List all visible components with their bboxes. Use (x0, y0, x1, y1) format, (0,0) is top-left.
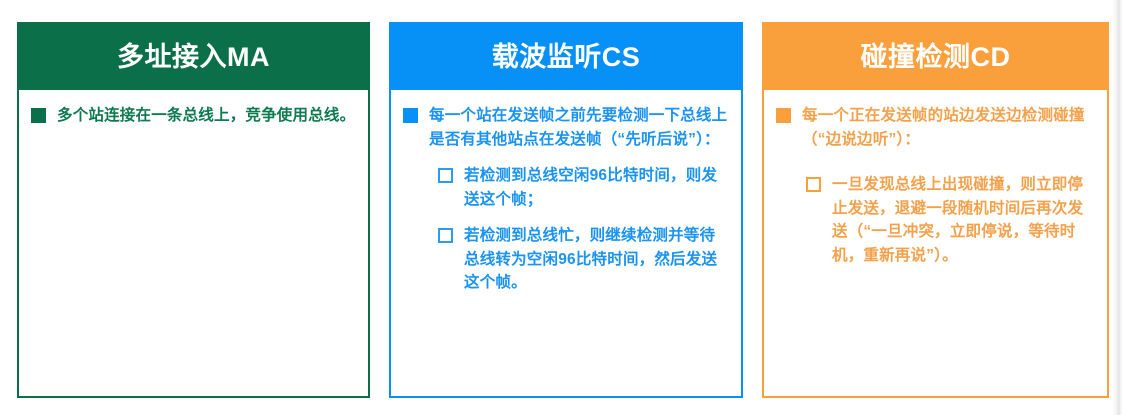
bullet-item: 多个站连接在一条总线上，竞争使用总线。 (31, 104, 356, 128)
card-multiple-access: 多址接入MA 多个站连接在一条总线上，竞争使用总线。 (17, 22, 370, 398)
bullet-text: 每一个正在发送帧的站边发送边检测碰撞（“边说边听”）： (802, 104, 1095, 151)
filled-square-marker-icon (776, 108, 791, 123)
card-body-carrier-sense: 每一个站在发送帧之前先要检测一下总线上是否有其他站点在发送帧（“先听后说”）： … (391, 90, 741, 396)
card-body-multiple-access: 多个站连接在一条总线上，竞争使用总线。 (19, 90, 368, 396)
bullet-item: 若检测到总线忙，则继续检测并等待总线转为空闲96比特时间，然后发送这个帧。 (438, 224, 729, 295)
card-title: 载波监听CS (492, 44, 641, 71)
card-header-multiple-access: 多址接入MA (19, 24, 368, 90)
card-carrier-sense: 载波监听CS 每一个站在发送帧之前先要检测一下总线上是否有其他站点在发送帧（“先… (389, 22, 743, 398)
filled-square-marker-icon (31, 108, 46, 123)
card-header-collision-detection: 碰撞检测CD (764, 24, 1107, 90)
bullet-text: 一旦发现总线上出现碰撞，则立即停止发送，退避一段随机时间后再次发送（“一旦冲突，… (832, 173, 1095, 267)
card-header-carrier-sense: 载波监听CS (391, 24, 741, 90)
card-body-collision-detection: 每一个正在发送帧的站边发送边检测碰撞（“边说边听”）： 一旦发现总线上出现碰撞，… (764, 90, 1107, 396)
bullet-text: 每一个站在发送帧之前先要检测一下总线上是否有其他站点在发送帧（“先听后说”）： (429, 104, 729, 151)
hollow-square-marker-icon (806, 177, 821, 192)
bullet-item: 每一个正在发送帧的站边发送边检测碰撞（“边说边听”）： (776, 104, 1095, 151)
slide-canvas: 多址接入MA 多个站连接在一条总线上，竞争使用总线。 载波监听CS 每一个站在发… (0, 0, 1122, 415)
bullet-item: 若检测到总线空闲96比特时间，则发送这个帧； (438, 164, 729, 211)
hollow-square-marker-icon (438, 168, 453, 183)
bullet-item: 每一个站在发送帧之前先要检测一下总线上是否有其他站点在发送帧（“先听后说”）： (403, 104, 729, 151)
card-collision-detection: 碰撞检测CD 每一个正在发送帧的站边发送边检测碰撞（“边说边听”）： 一旦发现总… (762, 22, 1109, 398)
filled-square-marker-icon (403, 108, 418, 123)
bullet-text: 多个站连接在一条总线上，竞争使用总线。 (57, 104, 355, 128)
bullet-item: 一旦发现总线上出现碰撞，则立即停止发送，退避一段随机时间后再次发送（“一旦冲突，… (806, 173, 1095, 267)
page-edge-shadow (1112, 0, 1122, 415)
card-title: 碰撞检测CD (861, 44, 1011, 71)
card-title: 多址接入MA (117, 44, 270, 71)
hollow-square-marker-icon (438, 228, 453, 243)
bullet-text: 若检测到总线忙，则继续检测并等待总线转为空闲96比特时间，然后发送这个帧。 (464, 224, 729, 295)
bullet-text: 若检测到总线空闲96比特时间，则发送这个帧； (464, 164, 729, 211)
